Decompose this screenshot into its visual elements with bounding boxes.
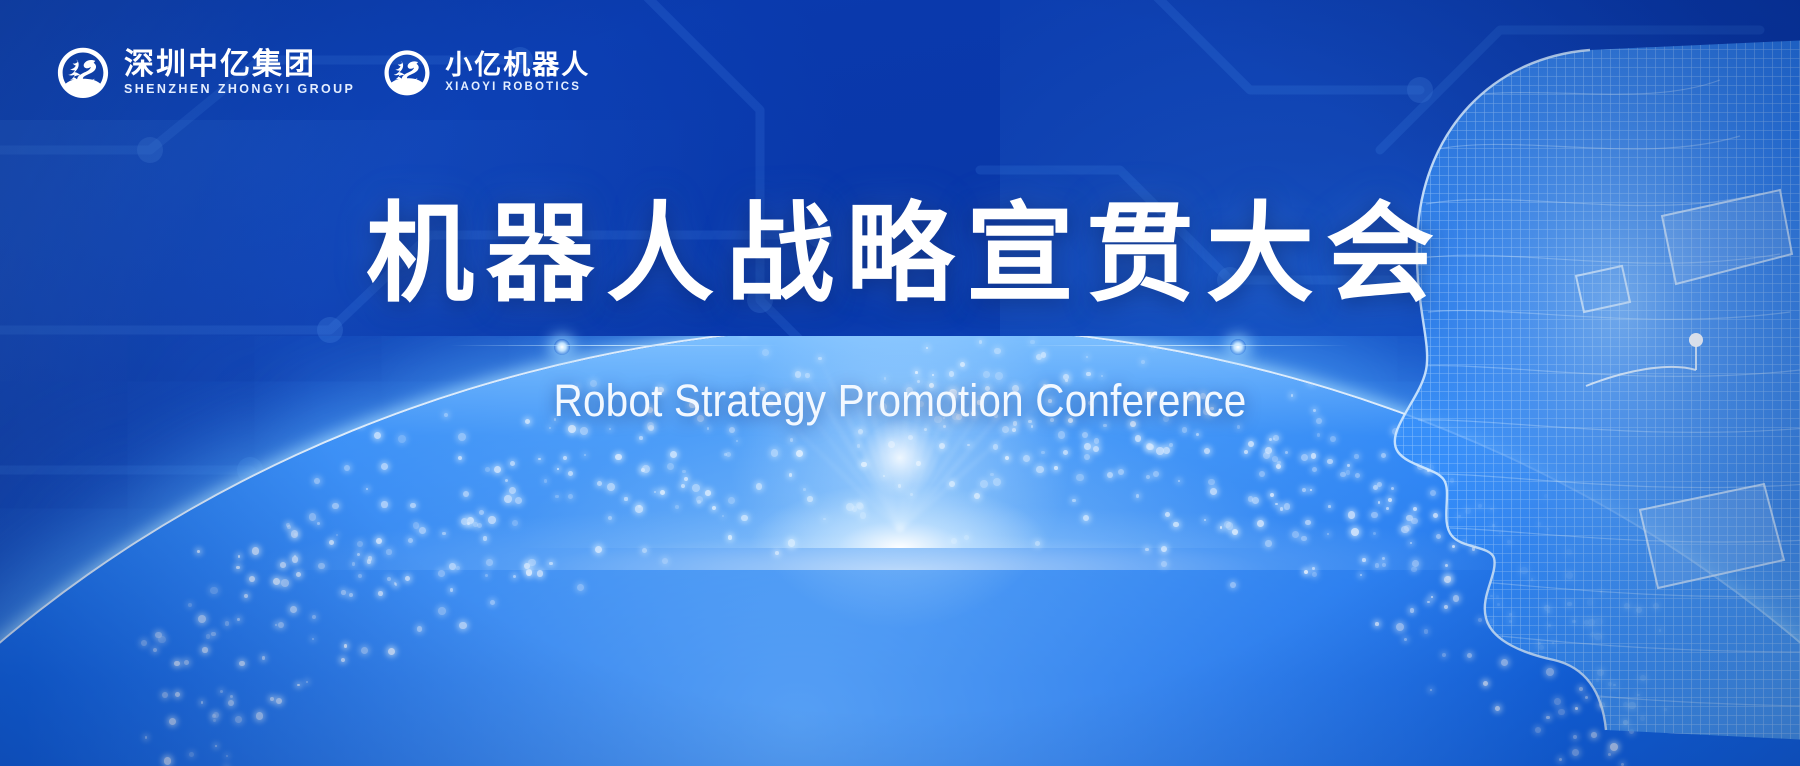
conference-title-en: Robot Strategy Promotion Conference bbox=[90, 375, 1710, 427]
horizon-glow bbox=[0, 450, 1800, 570]
logo-zhongyi-cn: 深圳中亿集团 bbox=[124, 50, 355, 80]
divider-dot-left bbox=[554, 339, 570, 355]
logo-xiaoyi-cn: 小亿机器人 bbox=[445, 52, 590, 79]
logo-bar: 深圳中亿集团 SHENZHEN ZHONGYI GROUP 小亿机器人 XIAO… bbox=[54, 44, 590, 102]
logo-xiaoyi-robotics[interactable]: 小亿机器人 XIAOYI ROBOTICS bbox=[381, 47, 590, 99]
logo-zhongyi-en: SHENZHEN ZHONGYI GROUP bbox=[124, 83, 355, 96]
logo-xiaoyi-en: XIAOYI ROBOTICS bbox=[445, 82, 590, 94]
logo-shenzhen-zhongyi-group[interactable]: 深圳中亿集团 SHENZHEN ZHONGYI GROUP bbox=[54, 44, 355, 102]
divider-dot-right bbox=[1230, 339, 1246, 355]
zhongyi-emblem-icon bbox=[54, 44, 112, 102]
xiaoyi-emblem-icon bbox=[381, 47, 433, 99]
divider-bar-left bbox=[450, 345, 780, 347]
title-divider bbox=[450, 335, 1350, 357]
divider-bar-right bbox=[1020, 345, 1350, 347]
conference-title-cn: 机器人战略宣贯大会 bbox=[0, 196, 1800, 313]
headline-block: 机器人战略宣贯大会 Robot Strategy Promotion Confe… bbox=[0, 196, 1800, 427]
conference-banner: 深圳中亿集团 SHENZHEN ZHONGYI GROUP 小亿机器人 XIAO… bbox=[0, 0, 1800, 766]
